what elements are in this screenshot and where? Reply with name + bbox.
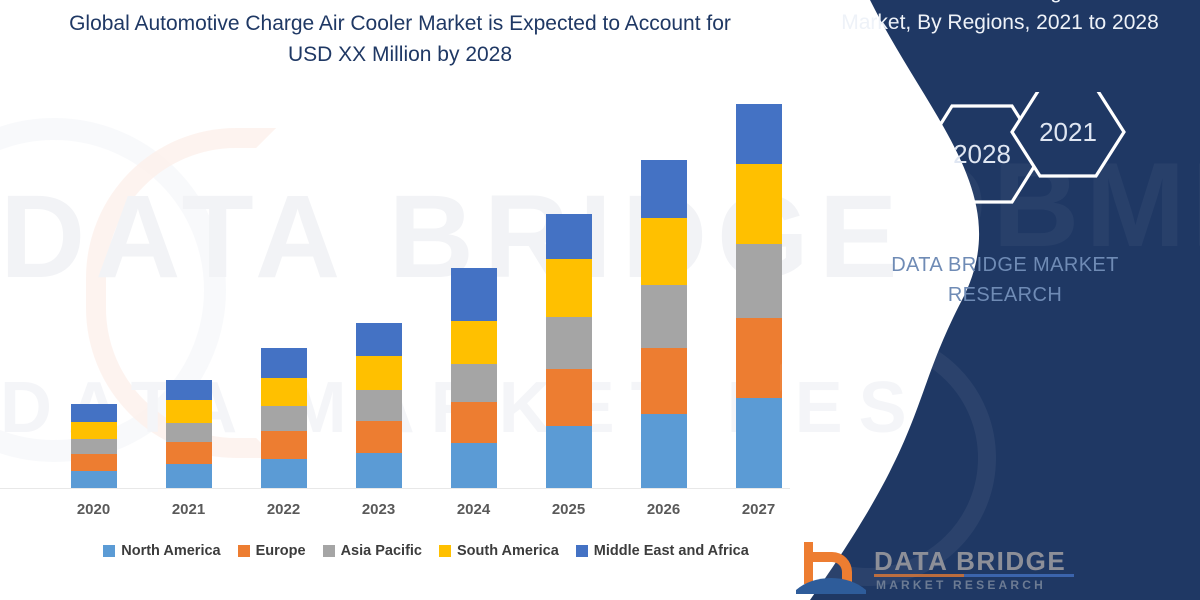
bar-segment bbox=[356, 323, 402, 357]
bar-segment bbox=[641, 414, 687, 488]
brand-panel: DBMR Global Automotive Charge Air Cooler… bbox=[780, 0, 1200, 600]
x-axis-label: 2021 bbox=[147, 501, 231, 518]
bar-segment bbox=[641, 348, 687, 414]
bar-segment bbox=[166, 380, 212, 400]
bar-segment bbox=[71, 422, 117, 439]
stacked-bar[interactable] bbox=[641, 160, 687, 488]
x-axis-label: 2020 bbox=[52, 501, 136, 518]
hexagon-group: 2028 2021 bbox=[900, 92, 1140, 232]
bar-segment bbox=[71, 404, 117, 421]
stacked-bar[interactable] bbox=[261, 348, 307, 488]
x-axis-labels: 20202021202220232024202520262027 bbox=[46, 496, 806, 522]
logo-name: DATA BRIDGE bbox=[874, 546, 1066, 577]
bar-segment bbox=[736, 104, 782, 164]
legend-label: South America bbox=[457, 543, 559, 559]
legend-swatch-icon bbox=[323, 545, 335, 557]
chart-legend: North AmericaEuropeAsia PacificSouth Ame… bbox=[46, 538, 806, 564]
bar-segment bbox=[546, 369, 592, 426]
logo-tagline: MARKET RESEARCH bbox=[876, 578, 1046, 592]
bar-segment bbox=[261, 378, 307, 406]
bar-segment bbox=[166, 442, 212, 464]
bar-column bbox=[337, 96, 421, 488]
x-axis-label: 2025 bbox=[527, 501, 611, 518]
legend-item[interactable]: Asia Pacific bbox=[323, 543, 422, 559]
brand-line-1: DATA BRIDGE MARKET bbox=[840, 250, 1170, 280]
bar-segment bbox=[546, 214, 592, 260]
bar-segment bbox=[641, 160, 687, 218]
bar-segment bbox=[451, 402, 497, 443]
legend-item[interactable]: North America bbox=[103, 543, 220, 559]
hexagon-2028-label: 2028 bbox=[953, 139, 1011, 169]
bar-segment bbox=[641, 218, 687, 286]
stacked-bar[interactable] bbox=[71, 404, 117, 488]
hexagon-2021-label: 2021 bbox=[1039, 117, 1097, 147]
bar-segment bbox=[451, 443, 497, 488]
legend-swatch-icon bbox=[439, 545, 451, 557]
legend-item[interactable]: Middle East and Africa bbox=[576, 543, 749, 559]
bar-segment bbox=[641, 285, 687, 347]
bar-segment bbox=[451, 268, 497, 321]
legend-label: North America bbox=[121, 543, 220, 559]
stacked-bar[interactable] bbox=[166, 380, 212, 488]
brand-line-2: RESEARCH bbox=[840, 280, 1170, 310]
stacked-bar[interactable] bbox=[356, 323, 402, 488]
legend-swatch-icon bbox=[103, 545, 115, 557]
bar-column bbox=[527, 96, 611, 488]
chart-title: Global Automotive Charge Air Cooler Mark… bbox=[60, 8, 740, 70]
legend-item[interactable]: Europe bbox=[238, 543, 306, 559]
stacked-bar[interactable] bbox=[736, 104, 782, 488]
bar-segment bbox=[736, 164, 782, 245]
bar-segment bbox=[166, 464, 212, 488]
bar-column bbox=[242, 96, 326, 488]
legend-label: Middle East and Africa bbox=[594, 543, 749, 559]
bar-segment bbox=[451, 364, 497, 402]
legend-label: Asia Pacific bbox=[341, 543, 422, 559]
bar-column bbox=[52, 96, 136, 488]
stacked-bar[interactable] bbox=[451, 268, 497, 488]
chart-canvas: DATA BRIDGE DATA MARKET RESEARCH Global … bbox=[0, 0, 1200, 600]
x-axis-label: 2022 bbox=[242, 501, 326, 518]
bar-segment bbox=[356, 356, 402, 390]
bar-segment bbox=[546, 317, 592, 369]
hexagons-svg: 2028 2021 bbox=[900, 92, 1140, 232]
bar-column bbox=[432, 96, 516, 488]
bar-segment bbox=[356, 421, 402, 454]
panel-title: Global Automotive Charge Air Cooler Mark… bbox=[820, 0, 1180, 38]
legend-swatch-icon bbox=[576, 545, 588, 557]
x-axis-label: 2026 bbox=[622, 501, 706, 518]
bar-segment bbox=[736, 244, 782, 318]
bar-segment bbox=[261, 459, 307, 488]
bar-column bbox=[622, 96, 706, 488]
legend-label: Europe bbox=[256, 543, 306, 559]
bar-segment bbox=[71, 454, 117, 470]
bar-segment bbox=[166, 400, 212, 423]
x-axis-line bbox=[0, 488, 790, 489]
bar-column bbox=[147, 96, 231, 488]
bar-segment bbox=[356, 453, 402, 488]
bar-segment bbox=[71, 439, 117, 454]
bar-segment bbox=[71, 471, 117, 488]
bar-segment bbox=[166, 423, 212, 443]
legend-item[interactable]: South America bbox=[439, 543, 559, 559]
bar-segment bbox=[546, 259, 592, 317]
bar-segment bbox=[261, 348, 307, 378]
bar-group bbox=[46, 96, 806, 488]
bar-segment bbox=[356, 390, 402, 420]
company-logo: DATA BRIDGE MARKET RESEARCH bbox=[796, 538, 1126, 596]
bar-segment bbox=[736, 318, 782, 397]
bar-segment bbox=[261, 406, 307, 431]
logo-rule bbox=[874, 574, 1074, 577]
stacked-bar[interactable] bbox=[546, 214, 592, 488]
bridge-logo-icon bbox=[796, 538, 866, 594]
bar-segment bbox=[451, 321, 497, 363]
x-axis-label: 2024 bbox=[432, 501, 516, 518]
bar-segment bbox=[261, 431, 307, 458]
brand-text: DATA BRIDGE MARKET RESEARCH bbox=[840, 250, 1170, 310]
x-axis-label: 2023 bbox=[337, 501, 421, 518]
bar-segment bbox=[546, 426, 592, 488]
legend-swatch-icon bbox=[238, 545, 250, 557]
bar-segment bbox=[736, 398, 782, 488]
plot-area bbox=[46, 96, 806, 488]
